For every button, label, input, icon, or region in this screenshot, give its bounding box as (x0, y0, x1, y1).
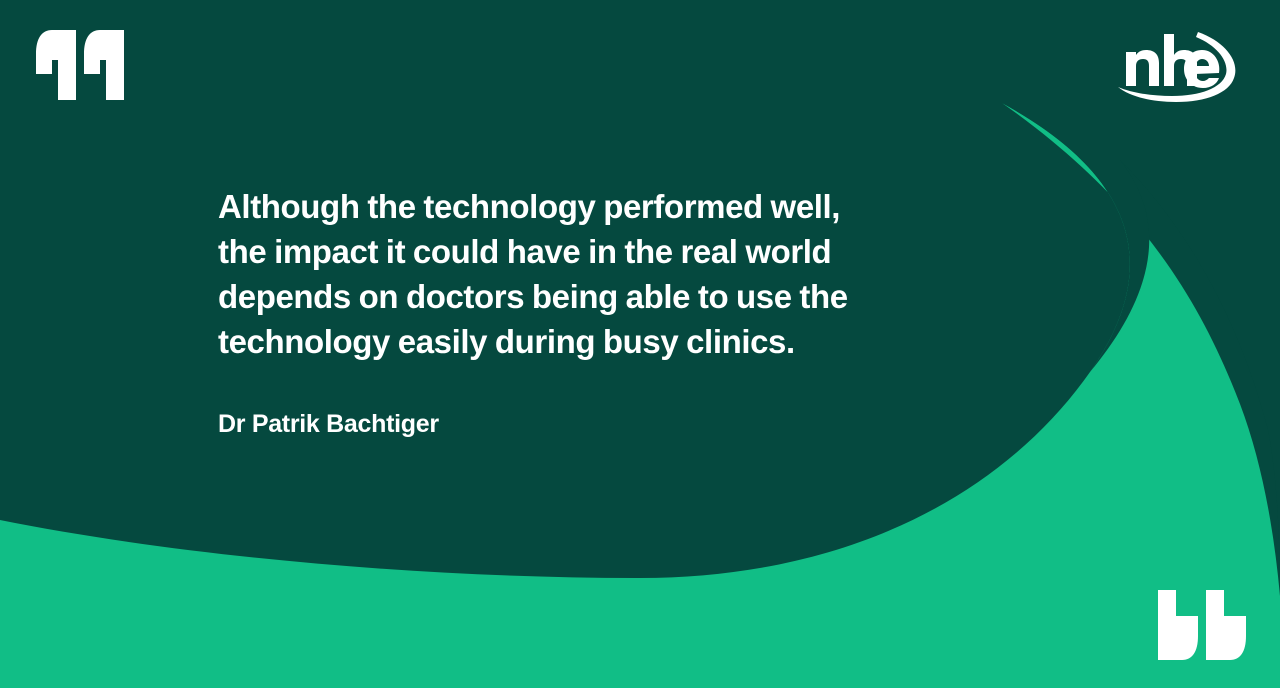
quote-content: Although the technology performed well, … (218, 184, 938, 439)
quote-card: Although the technology performed well, … (0, 0, 1280, 688)
quote-line-1: Although the technology performed well, (218, 184, 938, 229)
quote-line-2: the impact it could have in the real wor… (218, 229, 938, 274)
quote-text: Although the technology performed well, … (218, 184, 938, 364)
close-quote-icon (1158, 590, 1246, 660)
quote-line-3: depends on doctors being able to use the (218, 274, 938, 319)
open-quote-icon (36, 30, 124, 100)
quote-line-4: technology easily during busy clinics. (218, 319, 938, 364)
quote-attribution: Dr Patrik Bachtiger (218, 364, 938, 439)
nhe-logo[interactable] (1114, 24, 1244, 104)
logo-wordmark (1126, 34, 1219, 88)
